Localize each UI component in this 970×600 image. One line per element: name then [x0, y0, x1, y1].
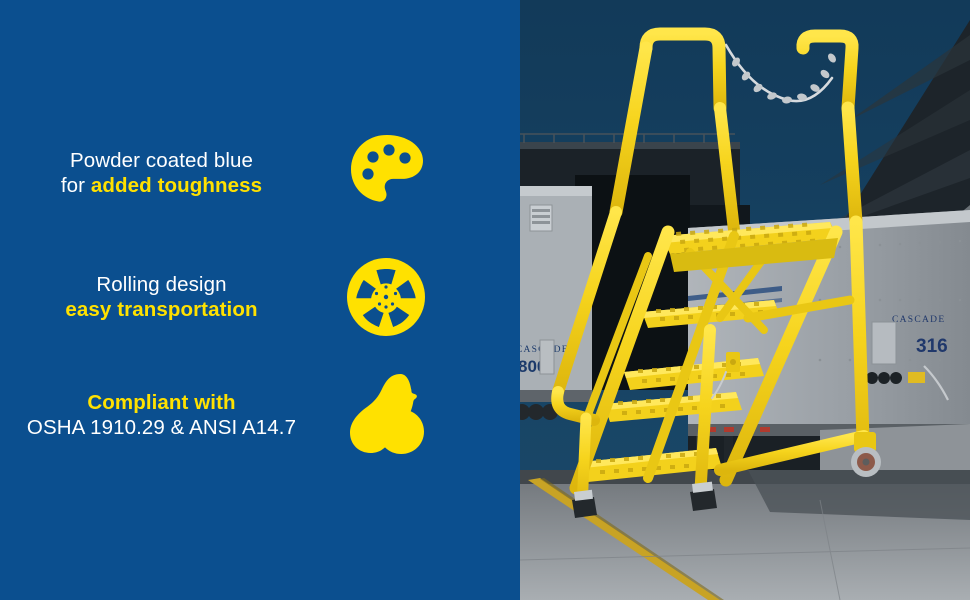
features-panel: Powder coated blue for added toughness R… [0, 0, 520, 600]
feature-line-1: Compliant with [0, 390, 323, 415]
feature-line-2-plain: for [61, 174, 91, 197]
wheel-icon [345, 256, 455, 338]
feature-line-2-bold: added toughness [91, 174, 262, 197]
flexed-bicep-icon [345, 371, 455, 459]
product-feature-banner: Powder coated blue for added toughness R… [0, 0, 970, 600]
feature-line-1: Powder coated blue [0, 148, 323, 173]
trailer-number-label: 316 [916, 336, 948, 357]
feature-line-2: for added toughness [0, 173, 323, 198]
feature-text-compliance: Compliant with OSHA 1910.29 & ANSI A14.7 [0, 390, 345, 440]
feature-line-1: Rolling design [0, 272, 323, 297]
feature-text-rolling-design: Rolling design easy transportation [0, 272, 345, 322]
trailer-brand-label: CASCADE [892, 315, 945, 325]
feature-row-powder-coat: Powder coated blue for added toughness [0, 118, 520, 228]
feature-row-compliance: Compliant with OSHA 1910.29 & ANSI A14.7 [0, 360, 520, 470]
product-photo: CASCADE 800 [520, 0, 970, 600]
palette-icon [345, 131, 455, 215]
feature-text-powder-coat: Powder coated blue for added toughness [0, 148, 345, 198]
feature-line-2: OSHA 1910.29 & ANSI A14.7 [0, 415, 323, 440]
feature-line-2: easy transportation [0, 297, 323, 322]
feature-row-rolling-design: Rolling design easy transportation [0, 242, 520, 352]
